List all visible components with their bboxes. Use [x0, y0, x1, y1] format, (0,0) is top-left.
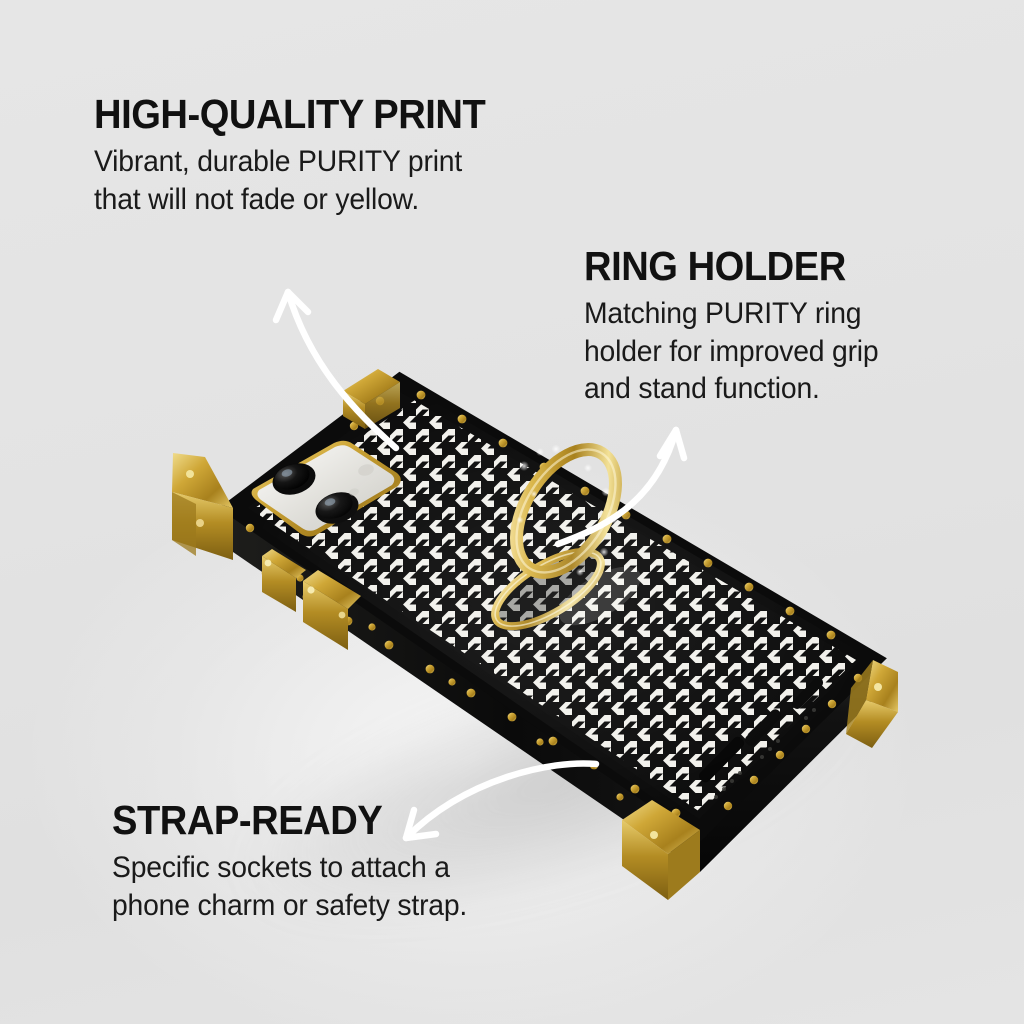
callout-heading: STRAP-READY	[112, 800, 549, 842]
callout-body-line: Vibrant, durable PURITY print	[94, 145, 462, 178]
callout-body-line: Matching PURITY ring	[584, 297, 861, 330]
callout-ring-holder: RING HOLDER Matching PURITY ring holder …	[584, 246, 984, 408]
product-feature-callout-image: HIGH-QUALITY PRINT Vibrant, durable PURI…	[0, 0, 1024, 1024]
callout-body-line: that will not fade or yellow.	[94, 183, 419, 216]
callout-body: Matching PURITY ring holder for improved…	[584, 295, 968, 408]
callout-body-line: holder for improved grip	[584, 335, 878, 368]
callout-body: Vibrant, durable PURITY print that will …	[94, 143, 545, 219]
callout-strap-ready: STRAP-READY Specific sockets to attach a…	[112, 800, 582, 924]
callout-body-line: phone charm or safety strap.	[112, 889, 467, 922]
callout-body-line: and stand function.	[584, 372, 820, 405]
callout-high-quality-print: HIGH-QUALITY PRINT Vibrant, durable PURI…	[94, 94, 564, 218]
callout-body: Specific sockets to attach a phone charm…	[112, 849, 563, 925]
callout-heading: RING HOLDER	[584, 246, 956, 288]
callout-heading: HIGH-QUALITY PRINT	[94, 94, 531, 136]
corner-bracket-left	[172, 453, 233, 560]
callout-body-line: Specific sockets to attach a	[112, 851, 450, 884]
